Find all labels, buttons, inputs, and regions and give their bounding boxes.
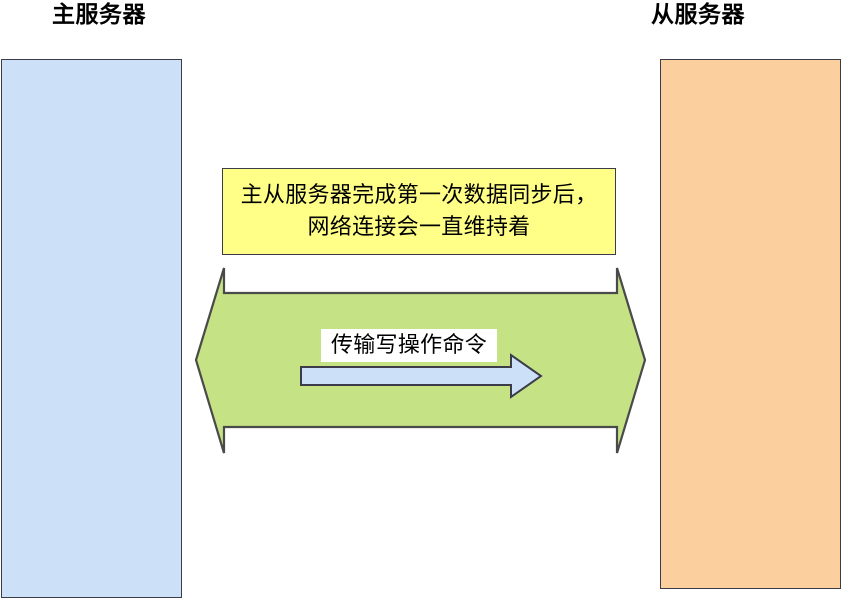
master-server-box (1, 59, 182, 598)
note-callout-box: 主从服务器完成第一次数据同步后， 网络连接会一直维持着 (222, 168, 616, 255)
blue-arrow-shape (301, 355, 541, 397)
slave-server-box (660, 59, 841, 589)
write-command-arrow (296, 350, 546, 402)
slave-server-title: 从服务器 (651, 4, 745, 27)
master-server-title: 主服务器 (52, 4, 146, 27)
note-callout-text: 主从服务器完成第一次数据同步后， 网络连接会一直维持着 (241, 180, 598, 244)
diagram-canvas: 主服务器 从服务器 传输写操作命令 主从服务器完成第一次数据同步后， 网络连接会… (0, 0, 842, 602)
